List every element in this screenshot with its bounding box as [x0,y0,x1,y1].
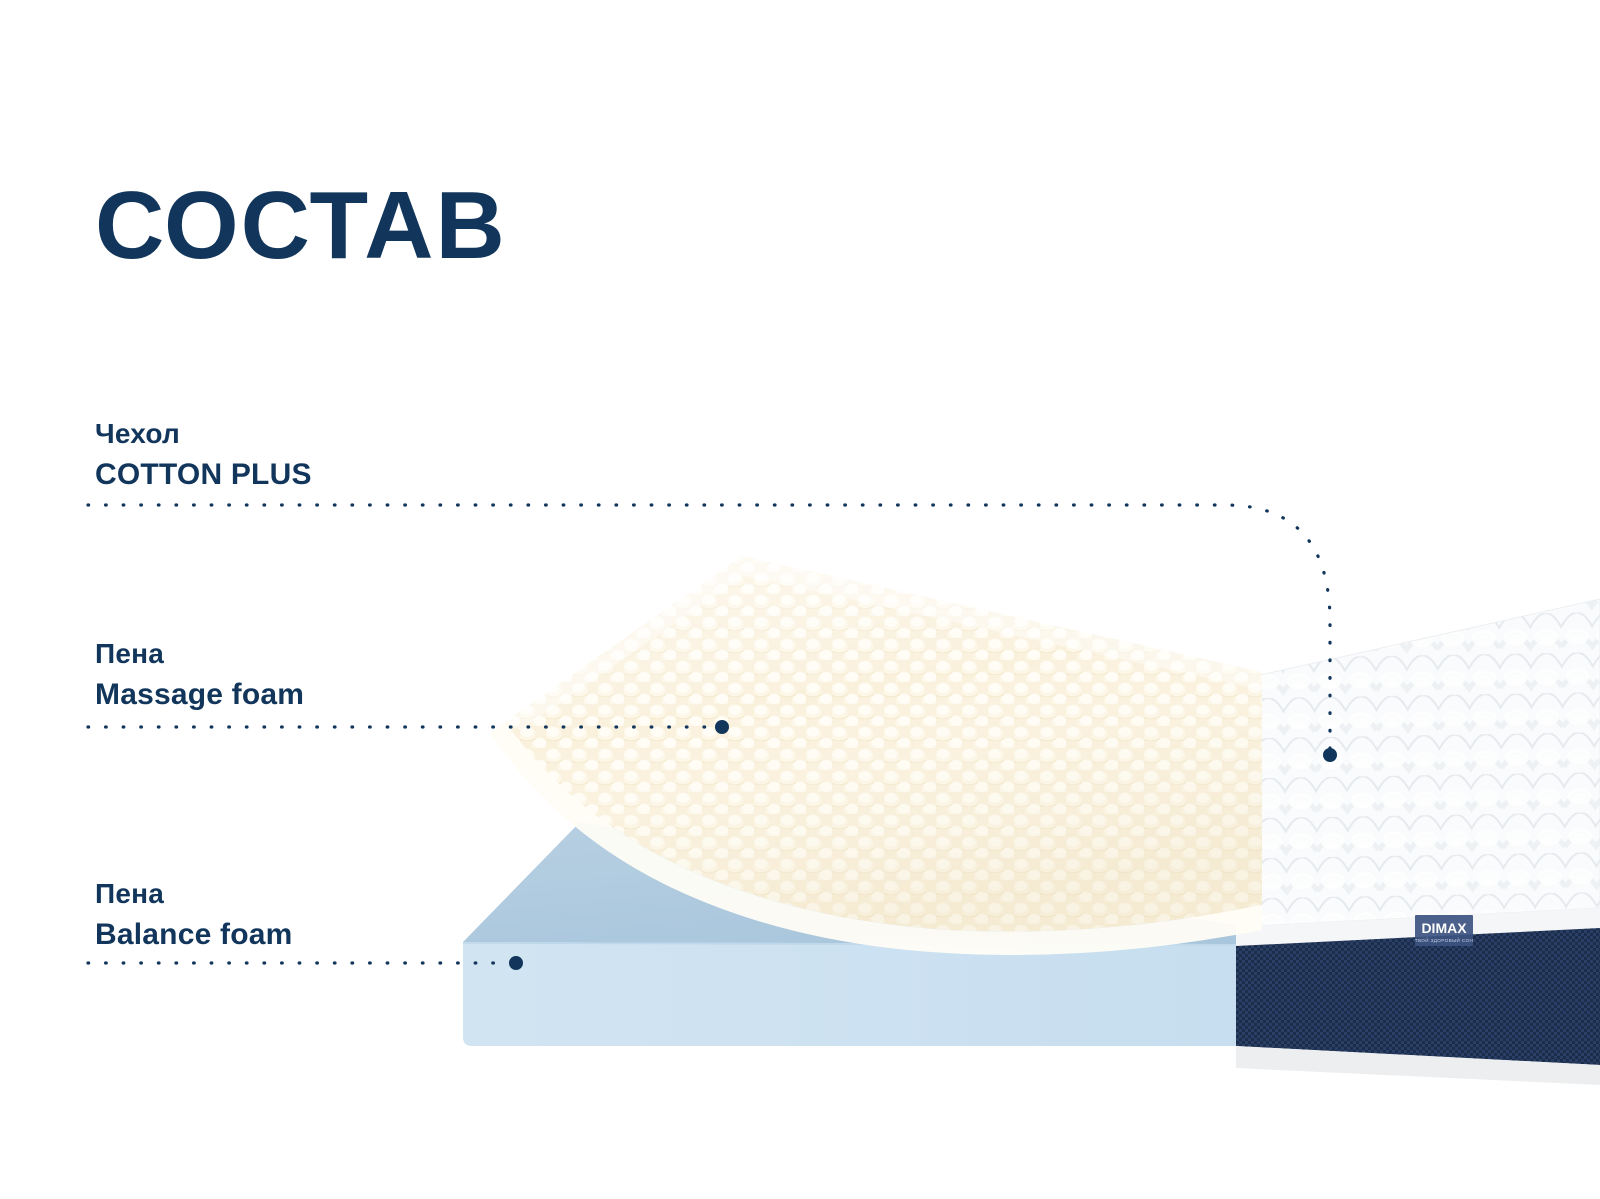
callout-massage-line1: Пена [95,634,304,674]
brand-label: DIMAX [1421,920,1467,936]
callout-balance-line1: Пена [95,874,292,914]
dimax-brand-patch: DIMAX ТВОЙ ЗДОРОВЫЙ СОН [1415,915,1473,946]
layer-cover-cotton-plus: DIMAX ТВОЙ ЗДОРОВЫЙ СОН [1236,599,1600,1085]
callout-massage-line2: Massage foam [95,674,304,717]
side-band-fabric [1236,928,1600,1065]
composition-infographic: DIMAX ТВОЙ ЗДОРОВЫЙ СОН [0,0,1600,1199]
callout-cover-line2: COTTON PLUS [95,454,312,497]
callout-cover-line1: Чехол [95,414,312,454]
callout-balance-foam: Пена Balance foam [95,874,292,956]
callout-cover: Чехол COTTON PLUS [95,414,312,496]
callout-massage-foam: Пена Massage foam [95,634,304,716]
page-title: СОСТАВ [95,178,507,274]
callout-balance-line2: Balance foam [95,914,292,957]
brand-sublabel: ТВОЙ ЗДОРОВЫЙ СОН [1415,936,1473,943]
